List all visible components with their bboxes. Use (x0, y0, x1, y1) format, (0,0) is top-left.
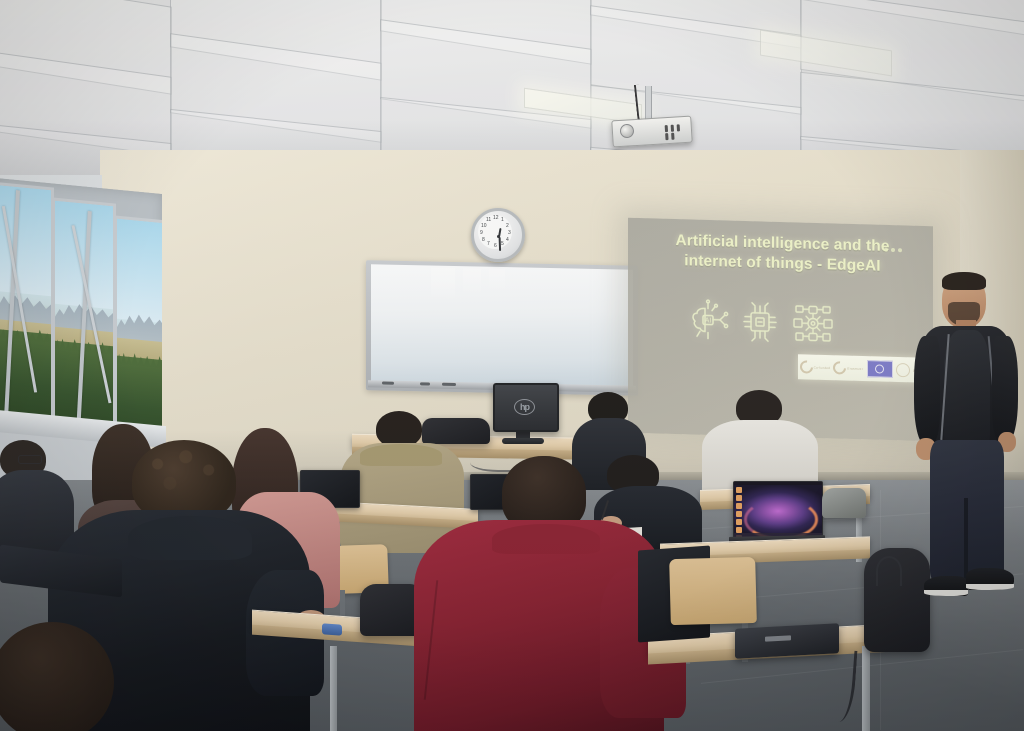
instructor-arm-right (992, 336, 1018, 442)
whiteboard (371, 264, 633, 387)
clock-numeral: 5 (501, 242, 504, 247)
microchip-icon (738, 299, 782, 349)
clock-numeral: 12 (493, 216, 499, 221)
shoe-sole-icon (966, 584, 1014, 590)
chair[interactable] (669, 557, 757, 625)
svg-text:AI: AI (705, 317, 712, 324)
slide-dot-icon (898, 248, 902, 252)
slide-title: Artificial intelligence and the internet… (640, 230, 925, 278)
backpack-strap (876, 556, 902, 586)
clock-numeral: 4 (506, 238, 509, 243)
clock-numeral: 3 (508, 231, 511, 236)
monitor-stand-foot (502, 438, 544, 444)
clock-numeral: 9 (480, 231, 483, 236)
bag-on-desk-left (360, 584, 422, 636)
shoe-sole-icon (924, 590, 968, 596)
laptop-top-bar (734, 482, 822, 485)
dock-icon[interactable] (736, 519, 742, 525)
eu-flag-logo (867, 360, 893, 378)
closed-laptop-front[interactable] (735, 623, 839, 658)
slide-corner-dots (884, 248, 902, 253)
open-laptop-ubuntu[interactable] (733, 481, 823, 539)
clock-numeral: 8 (482, 238, 485, 243)
hoodie-hood (128, 516, 252, 560)
blue-item-on-desk (322, 623, 342, 635)
dock-icon[interactable] (736, 511, 742, 517)
bag-on-teacher-desk (422, 418, 490, 444)
co-funded-logo-left: Co-funded (800, 360, 831, 374)
fleece-collar (492, 524, 600, 554)
wall-clock: 12 1 2 3 4 5 6 7 8 9 10 11 (471, 208, 525, 262)
iot-network-icon (790, 300, 836, 350)
clock-numeral: 7 (487, 242, 490, 247)
co-funded-logo-right: Erasmus+ (833, 361, 863, 375)
dock-icon[interactable] (736, 487, 742, 493)
instructor-hair-icon (942, 272, 986, 290)
clock-numeral: 11 (486, 218, 491, 223)
instructor (900, 270, 1024, 650)
curl-texture (140, 446, 228, 506)
instructor-shirt (944, 330, 990, 446)
clock-numeral: 6 (494, 244, 497, 249)
clock-numeral: 10 (481, 224, 487, 229)
slide-dot-icon (884, 248, 888, 252)
projector-mount-pole (645, 86, 652, 122)
clock-face: 12 1 2 3 4 5 6 7 8 9 10 11 (478, 215, 512, 249)
desk-leg (330, 646, 337, 731)
dock-icon[interactable] (736, 503, 742, 509)
bag-on-desk-right (822, 488, 866, 518)
slide-dot-icon (891, 248, 895, 252)
clock-numeral: 1 (501, 218, 504, 223)
instructor-arm-left (914, 336, 940, 444)
student-khaki-hoodie-hair (376, 411, 422, 447)
desk-leg (862, 646, 870, 731)
clock-numeral: 2 (506, 224, 509, 229)
clock-center-pin (497, 235, 500, 238)
window-pane (114, 215, 162, 442)
hp-logo-icon: hp (514, 399, 535, 415)
dock-icon[interactable] (736, 495, 742, 501)
glasses-icon (18, 455, 42, 464)
laptop-dock[interactable] (734, 485, 743, 531)
classroom-photo: 12 1 2 3 4 5 6 7 8 9 10 11 Artificial in… (0, 0, 1024, 731)
hoodie-hood (360, 444, 442, 466)
clock-minute-hand (499, 237, 501, 251)
slide-icon-row: AI (686, 298, 836, 350)
classroom-windows (0, 178, 162, 442)
ai-brain-icon: AI (686, 297, 730, 347)
